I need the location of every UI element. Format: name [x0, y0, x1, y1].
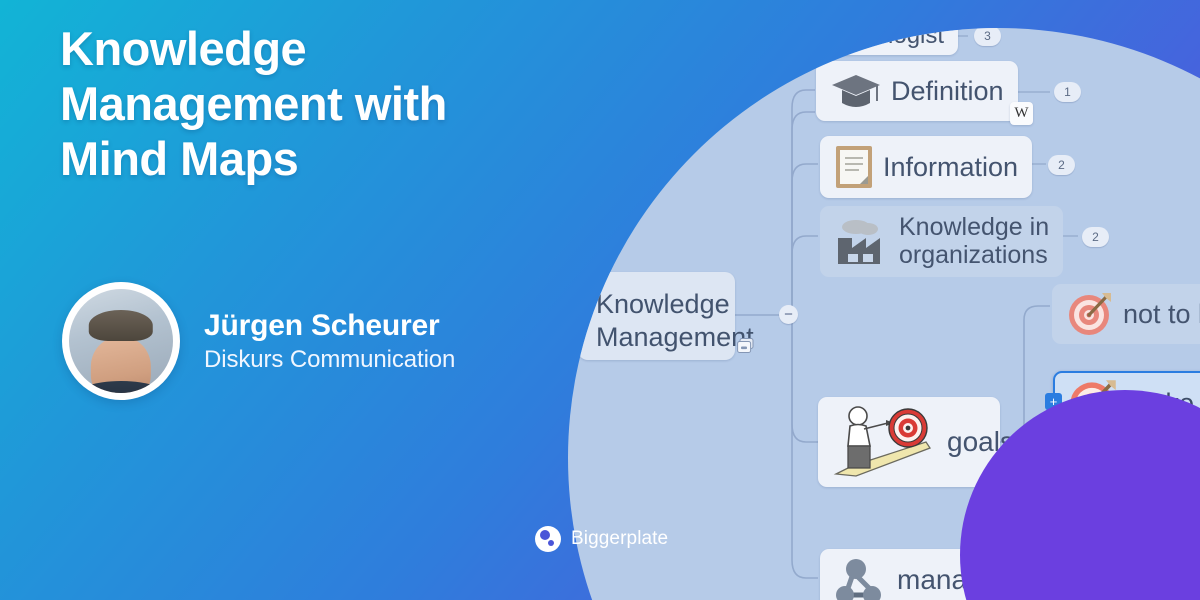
node-badge-sociologist[interactable]: 3 — [974, 28, 1001, 46]
brand-logo[interactable]: Biggerplate — [535, 526, 668, 552]
avatar — [62, 282, 180, 400]
badge-count: 1 — [1064, 85, 1071, 99]
wikipedia-icon[interactable]: W — [1010, 102, 1033, 125]
note-attachment-icon[interactable] — [737, 338, 757, 356]
node-label: Definition — [891, 76, 1004, 106]
node-label: not to lo — [1123, 299, 1200, 329]
page-title: Knowledge Management with Mind Maps — [60, 22, 620, 187]
speaker-name: Jürgen Scheurer — [204, 309, 455, 343]
node-badge-information[interactable]: 2 — [1048, 155, 1075, 175]
badge-count: 3 — [984, 29, 991, 43]
node-label: Information — [883, 152, 1018, 182]
collapse-glyph: − — [784, 307, 793, 322]
center-collapse-toggle[interactable]: − — [779, 305, 798, 324]
graduation-cap-icon — [830, 69, 882, 113]
badge-count: 2 — [1092, 230, 1099, 244]
document-icon — [834, 144, 874, 190]
badge-count: 2 — [1058, 158, 1065, 172]
speaker-organization: Diskurs Communication — [204, 346, 455, 374]
mindmap-node-definition[interactable]: Definition — [816, 61, 1018, 121]
mindmap-node-goals[interactable]: goals — [818, 397, 1000, 487]
speaker-block: Jürgen Scheurer Diskurs Communication — [62, 282, 455, 400]
mindmap-node-sociologist[interactable]: sociologist — [818, 28, 958, 55]
mindmap-node-knowledge-in-organizations[interactable]: Knowledge in organizations — [820, 206, 1063, 277]
wiki-glyph: W — [1014, 105, 1028, 122]
biggerplate-logo-icon — [535, 526, 561, 552]
node-badge-knowledge-in-organizations[interactable]: 2 — [1082, 227, 1109, 247]
speaker-text: Jürgen Scheurer Diskurs Communication — [204, 309, 455, 374]
node-label: sociologist — [832, 28, 944, 50]
goal-person-target-icon — [830, 402, 934, 482]
avatar-hair — [89, 310, 153, 341]
node-label: Knowledge in organizations — [899, 214, 1049, 269]
network-nodes-icon — [834, 557, 888, 600]
node-badge-definition[interactable]: 1 — [1054, 82, 1081, 102]
factory-icon — [834, 218, 890, 266]
brand-name: Biggerplate — [571, 528, 668, 550]
target-icon — [1066, 291, 1114, 337]
avatar-photo — [69, 289, 173, 393]
left-panel: Knowledge Management with Mind Maps Jürg… — [0, 0, 620, 600]
mindmap-node-information[interactable]: Information — [820, 136, 1032, 198]
mindmap-node-not-to-lose[interactable]: not to lo — [1052, 284, 1200, 344]
